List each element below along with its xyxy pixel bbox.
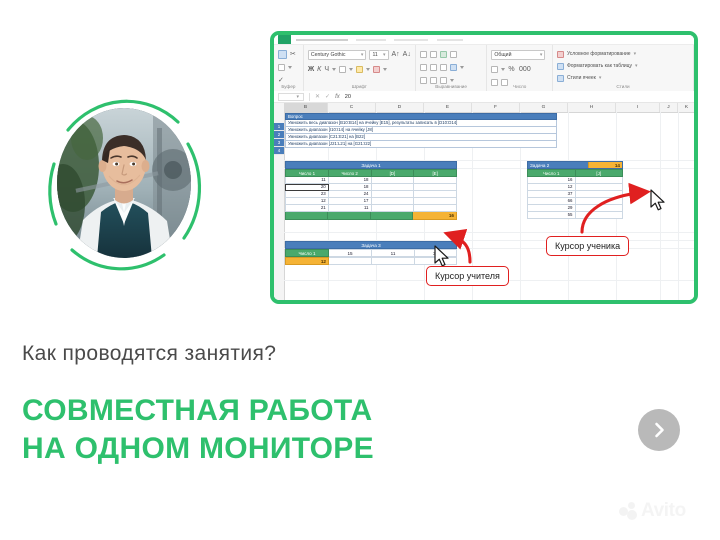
font-size-select[interactable]: 11 ▾ [369,50,388,60]
task3-table: Задача 3 Число 1 15 11 37 12 [285,241,457,265]
task2-title: Задача 2 [528,162,588,168]
cell [328,212,370,220]
task3-col-header: Число 1 [285,249,329,257]
ribbon-group-styles-label: Стили [553,82,693,91]
cell-active[interactable]: 20 [285,184,329,191]
font-size-value: 11 [372,50,377,60]
table-row[interactable]: 37 [527,191,623,198]
chevron-down-icon: ▾ [383,50,388,60]
number-format-value: Общий [494,50,511,60]
student-mouse-cursor [650,189,667,212]
avito-logo-icon [619,502,638,520]
chevron-down-icon: ▾ [599,75,604,81]
cell[interactable] [372,257,415,265]
task1-col-header: [E] [414,169,457,177]
align-right-icon[interactable] [440,64,447,71]
table-row[interactable]: 55 [527,212,623,219]
cell[interactable] [414,198,457,205]
table-row[interactable]: 66 [527,198,623,205]
column-header-C[interactable]: C [328,103,376,112]
cell[interactable]: 12 [527,184,576,191]
chevron-down-icon[interactable] [288,66,292,69]
task3-multiplier-cell[interactable]: 12 [285,257,329,265]
font-color-icon[interactable] [373,66,380,73]
cell [285,212,328,220]
insert-function-icon[interactable]: fx [335,94,340,100]
ribbon-group-clipboard: ✂ ✓ Буфер обмена [274,45,304,91]
cell[interactable]: 18 [329,177,372,184]
cell[interactable]: 55 [527,212,576,219]
ribbon-tab-strip [274,35,694,45]
chevron-down-icon[interactable] [383,68,387,71]
cell[interactable] [372,198,415,205]
cell[interactable]: 11 [329,205,372,212]
chevron-down-icon[interactable] [349,68,353,71]
formula-bar: ▾ ✕ ✓ fx 20 [274,91,694,103]
currency-format-icon[interactable] [491,66,498,73]
ribbon-group-font: Century Gothic ▾ 11 ▾ A↑ A↓ Ж [304,45,416,91]
task1-multiplier-cell[interactable]: 16 [413,212,457,220]
portrait-block [38,92,210,274]
ribbon-groups: ✂ ✓ Буфер обмена [274,45,694,91]
align-left-icon[interactable] [420,64,427,71]
avito-wordmark: Avito [641,500,686,522]
table-row[interactable]: 21 11 [285,205,457,212]
column-header-F[interactable]: F [472,103,520,112]
column-header-D[interactable]: D [376,103,424,112]
task2-multiplier-cell[interactable]: 14 [588,162,622,168]
ribbon-group-alignment-label: Выравнивание [416,82,487,91]
ribbon-group-number-label: Число [487,82,552,91]
task3-header-row: Число 1 15 11 37 [285,249,457,257]
cut-icon[interactable]: ✂ [290,50,296,59]
table-row[interactable]: 29 [527,205,623,212]
task1-col-header: Число 1 [285,169,329,177]
enter-icon[interactable]: ✓ [325,93,330,100]
avito-watermark: Avito [619,500,686,522]
question-item[interactable]: Умножить весь диапазон [B10:B14] на ячей… [285,120,557,127]
cell[interactable] [576,177,624,184]
chevron-down-icon: ▾ [635,63,640,69]
cell[interactable]: 37 [527,191,576,198]
chevron-down-icon[interactable] [460,66,464,69]
tab-formulas[interactable] [437,39,463,41]
underline-icon[interactable]: Ч [324,65,329,74]
excel-window: ✂ ✓ Буфер обмена [274,35,694,300]
excel-screenshot-frame: ✂ ✓ Буфер обмена [270,31,698,304]
cell[interactable]: 11 [372,249,415,257]
cell[interactable] [414,184,457,191]
chevron-down-icon[interactable] [501,68,505,71]
increase-font-size-icon[interactable]: A↑ [392,50,400,59]
align-middle-icon[interactable] [430,51,437,58]
cell[interactable] [576,184,624,191]
question-item[interactable]: Умножить диапазон [J21:L21] на [G21:I22] [285,141,557,148]
name-box[interactable]: ▾ [278,93,304,101]
task2-col-header: Число 1 [527,169,576,177]
question-item[interactable]: Умножить диапазон [I10:I14] на ячейку [J… [285,127,557,134]
chevron-right-icon [649,420,669,440]
task3-title-bar: Задача 3 [285,241,457,249]
row-header-4[interactable]: 4 [274,147,284,155]
task1-header-row: Число 1 Число 2 [D] [E] [285,169,457,177]
student-cursor-callout: Курсор ученика [546,236,629,256]
cell[interactable]: 12 [285,198,329,205]
question-block: Вопрос Умножить весь диапазон [B10:B14] … [285,113,557,148]
cell[interactable]: 23 [285,191,329,198]
table-row[interactable]: 16 [527,177,623,184]
tab-file[interactable] [278,35,291,44]
cell[interactable] [372,184,415,191]
page-kicker: Как проводятся занятия? [22,342,442,366]
paste-icon[interactable] [278,50,287,59]
format-as-table-button[interactable]: Форматировать как таблицу ▾ [557,60,689,72]
copy-icon[interactable] [278,64,285,71]
cell[interactable]: 18 [329,184,372,191]
column-header-K[interactable]: K [678,103,694,112]
chevron-down-icon: ▾ [634,51,639,57]
chevron-down-icon: ▾ [540,50,545,60]
row-header-2[interactable]: 2 [274,131,284,139]
table-row[interactable]: 12 [527,184,623,191]
cancel-icon[interactable]: ✕ [315,93,320,100]
task1-footer-row: 16 [285,212,457,220]
font-name-select[interactable]: Century Gothic ▾ [308,50,367,60]
conditional-formatting-label: Условное форматирование [567,51,631,57]
number-format-select[interactable]: Общий ▾ [491,50,545,60]
cell[interactable] [576,191,624,198]
task1-title: Задача 1 [286,162,456,168]
task3-title: Задача 3 [286,242,456,248]
fill-color-icon[interactable] [356,66,363,73]
conditional-formatting-button[interactable]: Условное форматирование ▾ [557,48,689,60]
cell[interactable]: 66 [527,198,576,205]
chevron-down-icon[interactable] [332,68,336,71]
cell[interactable] [576,198,624,205]
cell[interactable] [576,205,624,212]
slide-canvas: Как проводятся занятия? Совместная работ… [0,0,720,540]
chevron-down-icon[interactable] [366,68,370,71]
table-row[interactable]: 12 17 [285,198,457,205]
column-header-G[interactable]: G [520,103,568,112]
task2-col-header: [J] [576,169,624,177]
headline-line-1: Совместная работа [22,392,462,430]
format-as-table-label: Форматировать как таблицу [567,63,632,69]
column-header-H[interactable]: H [568,103,616,112]
decrease-font-size-icon[interactable]: A↓ [403,50,411,59]
column-header-J[interactable]: J [660,103,678,112]
cell[interactable]: 16 [527,177,576,184]
cell[interactable] [329,257,372,265]
comma-style-icon[interactable]: 000 [518,65,531,74]
cell[interactable] [576,212,624,219]
next-slide-button[interactable] [638,409,680,451]
ribbon-group-alignment: Выравнивание [416,45,488,91]
task1-title-bar: Задача 1 [285,161,457,169]
avatar [57,108,191,258]
italic-icon[interactable]: К [317,65,321,74]
tab-insert[interactable] [356,39,386,41]
cell[interactable] [372,191,415,198]
cell-styles-icon [557,75,564,82]
tab-layout[interactable] [394,39,428,41]
align-bottom-icon[interactable] [440,51,447,58]
cell[interactable] [414,177,457,184]
divider [309,93,310,101]
task3-value-row[interactable]: 12 [285,257,457,265]
table-row[interactable]: 20 18 [285,184,457,191]
cell [371,212,413,220]
task2-table: Задача 2 14 Число 1 [J] 16 12 [527,161,623,219]
tab-home[interactable] [296,39,348,41]
ribbon-group-styles: Условное форматирование ▾ Форматировать … [553,45,694,91]
teacher-cursor-callout: Курсор учителя [426,266,509,286]
ribbon-group-font-label: Шрифт [304,82,415,91]
cell[interactable]: 15 [329,249,372,257]
cell[interactable] [372,205,415,212]
cell[interactable] [372,177,415,184]
cell[interactable] [414,205,457,212]
column-header-I[interactable]: I [616,103,660,112]
teacher-mouse-cursor [434,245,451,268]
row-header-1[interactable]: 1 [274,123,284,131]
cursor-arrow-icon [650,189,667,212]
align-top-icon[interactable] [420,51,427,58]
task2-header-row: Число 1 [J] [527,169,623,177]
cell[interactable]: 11 [285,177,329,184]
excel-ribbon: ✂ ✓ Буфер обмена [274,35,694,92]
page-title: Совместная работа на одном мониторе [22,392,462,467]
orientation-icon[interactable] [450,51,457,58]
cell[interactable]: 24 [329,191,372,198]
align-center-icon[interactable] [430,64,437,71]
bold-icon[interactable]: Ж [308,65,314,74]
chevron-down-icon: ▾ [296,94,301,100]
table-row[interactable]: 23 24 [285,191,457,198]
task2-title-bar: Задача 2 14 [527,161,623,169]
borders-icon[interactable] [339,66,346,73]
question-block-header: Вопрос [285,113,557,120]
ribbon-group-number: Общий ▾ % 000 [487,45,553,91]
table-row[interactable]: 11 18 [285,177,457,184]
font-name-value: Century Gothic [311,50,346,60]
format-as-table-icon [557,63,564,70]
conditional-formatting-icon [557,51,564,58]
cell[interactable] [414,191,457,198]
percent-format-icon[interactable]: % [508,65,514,74]
ribbon-group-clipboard-label: Буфер обмена [274,82,303,91]
cell-styles-label: Стили ячеек [567,75,596,81]
cell[interactable]: 21 [285,205,329,212]
question-item[interactable]: Умножить диапазон [C21:E21] на [B22] [285,134,557,141]
cursor-arrow-icon [434,245,451,268]
task1-col-header: [D] [372,169,415,177]
row-header-3[interactable]: 3 [274,139,284,147]
merge-cells-icon[interactable] [450,64,457,71]
column-header-E[interactable]: E [424,103,472,112]
formula-bar-value[interactable]: 20 [345,94,351,100]
headline-line-2: на одном мониторе [22,430,462,468]
cell[interactable]: 29 [527,205,576,212]
column-header-B[interactable]: B [284,103,328,112]
chevron-down-icon: ▾ [361,50,366,60]
task1-col-header: Число 2 [329,169,372,177]
cell[interactable]: 17 [329,198,372,205]
task1-table: Задача 1 Число 1 Число 2 [D] [E] 11 18 [285,161,457,220]
